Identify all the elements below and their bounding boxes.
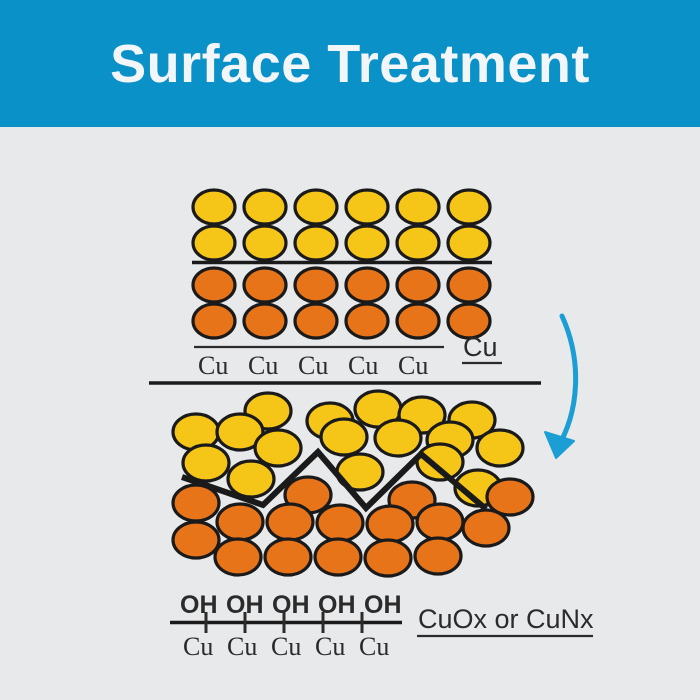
atom-yellow [375,420,421,456]
atom-orange [215,539,261,575]
atom-orange [295,304,337,338]
atom-orange [317,505,363,541]
atom-yellow [346,226,388,260]
substrate-label-cu: Cu [348,351,378,380]
phase-label-cu: Cu [463,332,498,362]
atom-yellow [295,226,337,260]
substrate-label-cu-bottom: Cu [271,632,301,661]
atom-yellow [244,226,286,260]
atom-orange [365,540,411,576]
hydroxyl-label-oh: OH [272,591,310,619]
atom-yellow [346,190,388,224]
atom-yellow [255,430,301,466]
atom-orange [415,538,461,574]
hydroxyl-label-oh: OH [180,591,218,619]
atom-row-yellow-2 [193,226,490,260]
atom-yellow [397,226,439,260]
diagram-stage: Surface Treatment [0,0,700,700]
atom-row-orange-2 [193,304,490,338]
process-arrow [545,316,576,458]
atom-orange [346,268,388,302]
substrate-label-cu-bottom: Cu [315,632,345,661]
atom-yellow [397,190,439,224]
atom-orange [244,304,286,338]
atom-orange [217,504,263,540]
atom-orange [346,304,388,338]
atom-orange [193,304,235,338]
atom-row-orange-1 [193,268,490,302]
atom-yellow [321,419,367,455]
surface-treatment-figure: Cu Cu Cu Cu Cu Cu [0,0,700,700]
atom-yellow [448,226,490,260]
atom-yellow [448,190,490,224]
atom-orange [417,504,463,540]
atom-yellow [183,445,229,481]
atom-orange [295,268,337,302]
atom-orange [193,268,235,302]
atom-row-yellow-1 [193,190,490,224]
atom-yellow [193,226,235,260]
substrate-label-cu-bottom: Cu [359,632,389,661]
atom-orange [397,268,439,302]
atom-yellow [228,461,274,497]
substrate-label-cu-bottom: Cu [227,632,257,661]
atom-orange [367,506,413,542]
atom-orange [244,268,286,302]
atom-orange [265,539,311,575]
substrate-label-cu: Cu [298,351,328,380]
substrate-label-cu-bottom: Cu [183,632,213,661]
atom-orange [397,304,439,338]
atom-yellow [417,444,463,480]
substrate-label-cu: Cu [248,351,278,380]
atom-orange [315,539,361,575]
atom-yellow [244,190,286,224]
atom-yellow [193,190,235,224]
atom-orange [173,522,219,558]
hydroxyl-label-oh: OH [364,591,402,619]
atom-yellow [477,430,523,466]
atom-orange [448,268,490,302]
substrate-label-cu: Cu [398,351,428,380]
substrate-label-cu: Cu [198,351,228,380]
atom-orange [267,504,313,540]
atom-yellow [295,190,337,224]
untreated-copper-lattice: Cu Cu Cu Cu Cu Cu [149,190,541,383]
atom-orange [173,485,219,521]
phase-label-cuox-cunx: CuOx or CuNx [418,604,594,634]
treated-copper-lattice: OH OH OH OH OH Cu Cu Cu Cu Cu CuOx or Cu… [170,391,594,661]
atom-orange [463,510,509,546]
